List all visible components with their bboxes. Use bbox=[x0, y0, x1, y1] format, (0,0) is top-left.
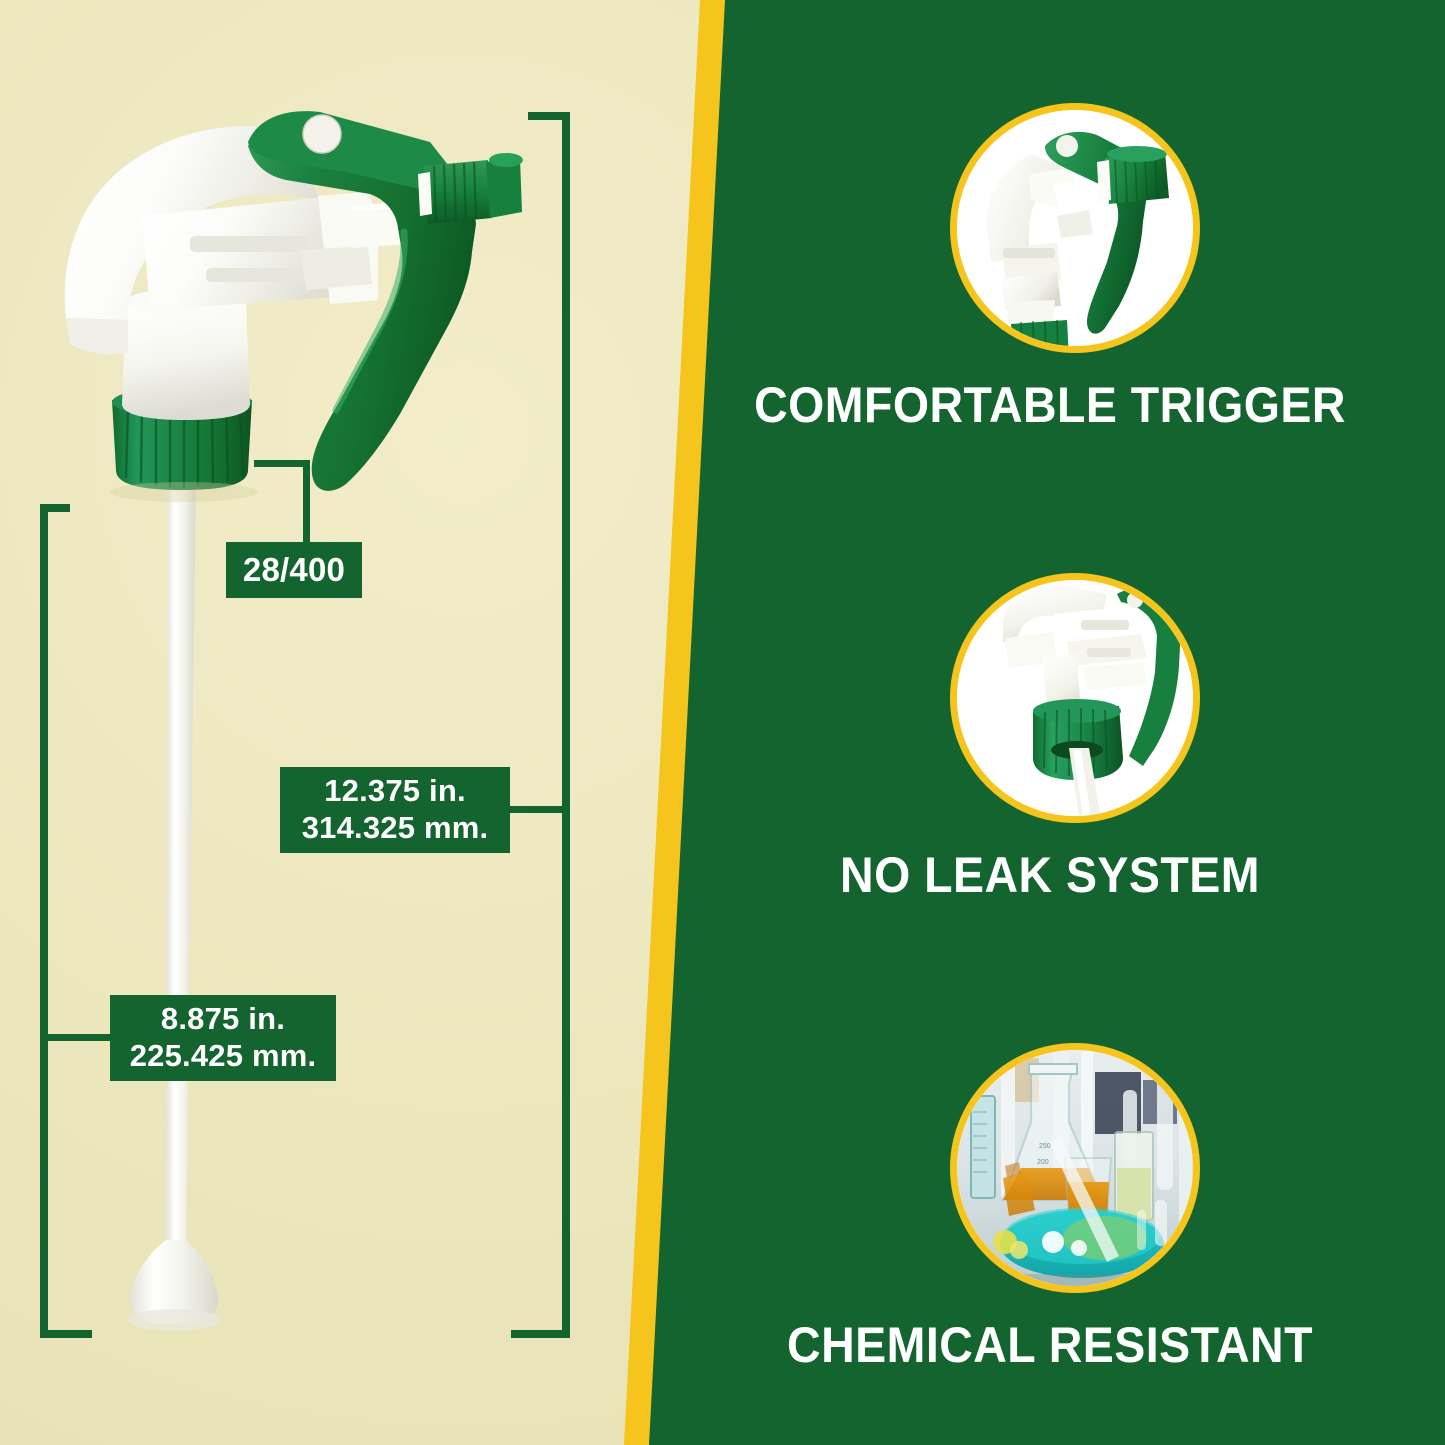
callout-overall-length-line-2: 314.325 mm. bbox=[302, 810, 489, 847]
bracket-overall-connector bbox=[506, 806, 566, 813]
trigger-sprayer-image bbox=[0, 0, 620, 1380]
bracket-overall-tick-bottom bbox=[511, 1330, 570, 1338]
bracket-diptube-vertical bbox=[40, 504, 48, 1338]
leader-neck-vertical bbox=[303, 460, 310, 546]
sprayer-cap-closeup-icon bbox=[957, 580, 1193, 816]
svg-text:250: 250 bbox=[1039, 1143, 1051, 1150]
callout-diptube-length: 8.875 in. 225.425 mm. bbox=[110, 995, 336, 1081]
feature-2-photo bbox=[950, 573, 1200, 823]
sprayer-trigger-closeup-icon bbox=[957, 110, 1193, 346]
feature-1-title: COMFORTABLE TRIGGER bbox=[683, 376, 1418, 434]
product-infographic: 28/400 12.375 in. 314.325 mm. 8.875 in. … bbox=[0, 0, 1445, 1445]
bracket-overall-tick-top bbox=[528, 112, 570, 120]
callout-neck-size-line-1: 28/400 bbox=[243, 551, 345, 590]
bracket-diptube-tick-bottom bbox=[40, 1330, 92, 1338]
feature-2-title: NO LEAK SYSTEM bbox=[683, 846, 1418, 904]
leader-neck-horizontal bbox=[254, 460, 310, 467]
feature-1-photo bbox=[950, 103, 1200, 353]
callout-neck-size: 28/400 bbox=[226, 542, 362, 598]
svg-text:200: 200 bbox=[1037, 1159, 1049, 1166]
feature-3-photo: 250 200 bbox=[950, 1043, 1200, 1293]
bracket-diptube-tick-top bbox=[40, 504, 70, 512]
callout-overall-length: 12.375 in. 314.325 mm. bbox=[280, 767, 510, 853]
callout-diptube-length-line-2: 225.425 mm. bbox=[130, 1038, 317, 1075]
bracket-diptube-connector bbox=[44, 1034, 112, 1041]
callout-overall-length-line-1: 12.375 in. bbox=[324, 773, 466, 810]
bracket-overall-vertical bbox=[562, 112, 570, 1338]
feature-3-title: CHEMICAL RESISTANT bbox=[683, 1316, 1418, 1374]
lab-glassware-photo-icon: 250 200 bbox=[957, 1050, 1193, 1286]
callout-diptube-length-line-1: 8.875 in. bbox=[161, 1001, 285, 1038]
